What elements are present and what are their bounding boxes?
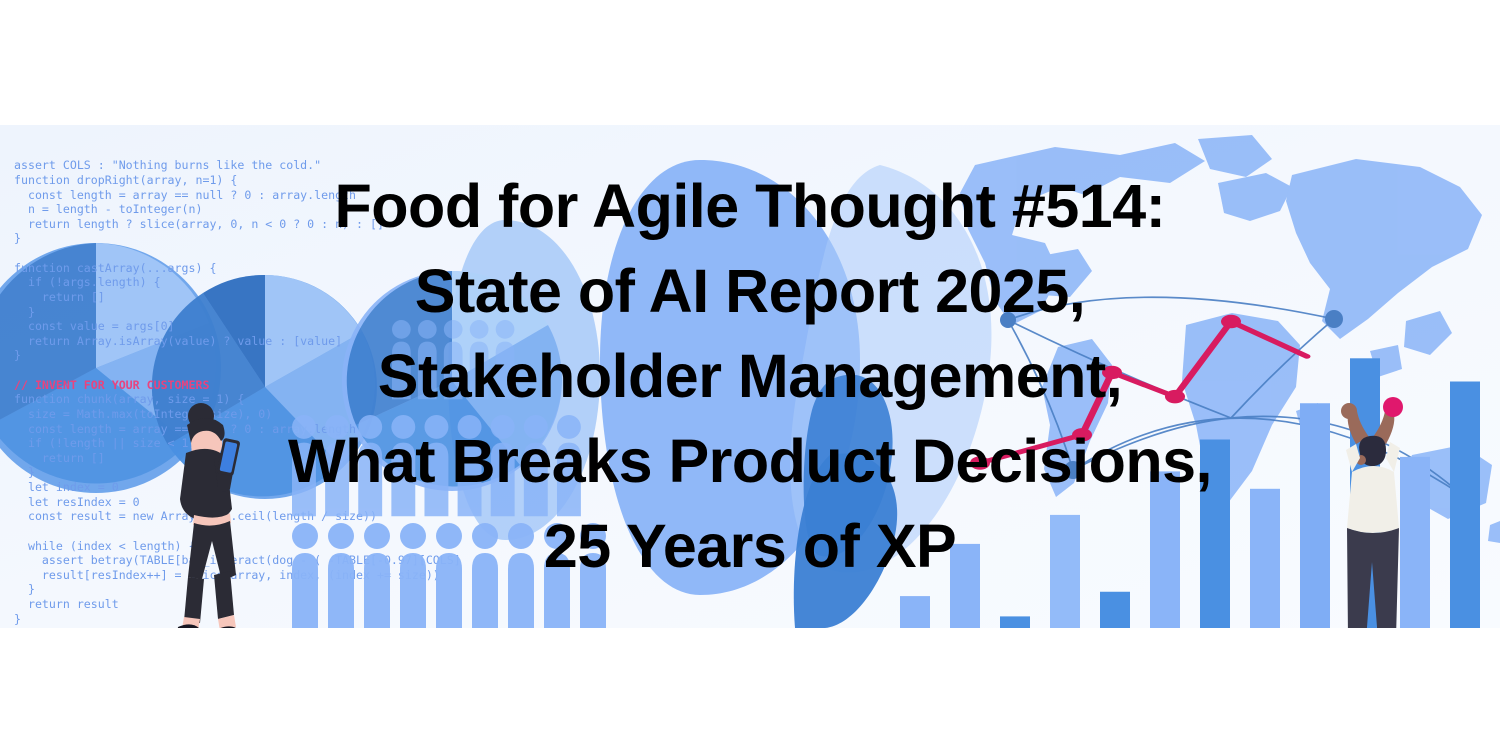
article-hero-banner: assert COLS : "Nothing burns like the co… [0,125,1500,628]
banner-page: assert COLS : "Nothing burns like the co… [0,0,1500,750]
person-raising-arms-illustration [0,125,1500,628]
